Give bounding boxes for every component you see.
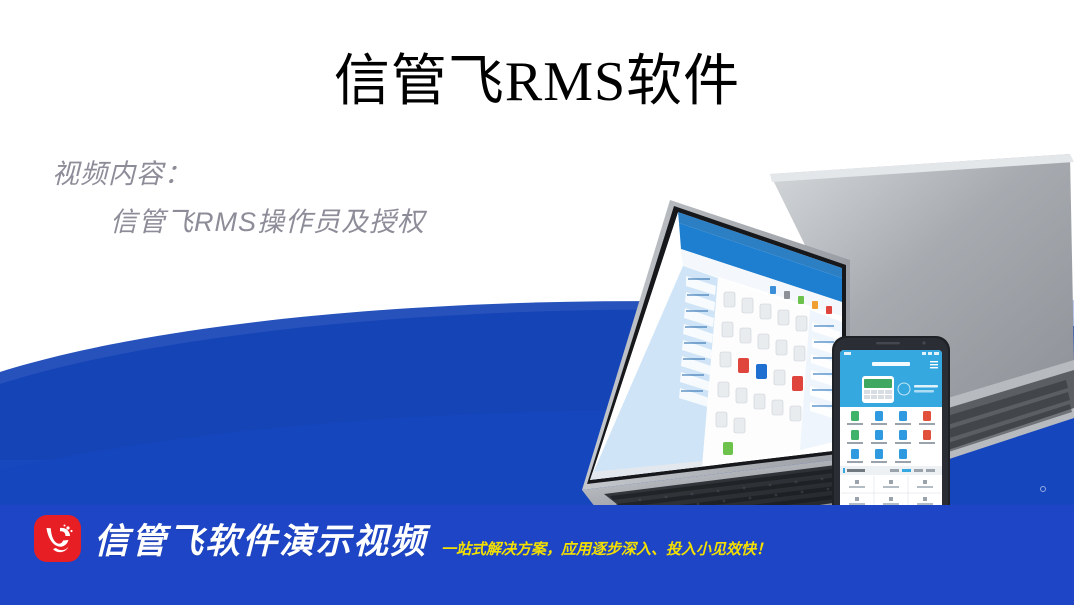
presentation-slide: 信管飞RMS软件 视频内容： 信管飞RMS操作员及授权: [0, 0, 1074, 605]
subtitle-content: 信管飞RMS操作员及授权: [110, 206, 425, 240]
decorative-dot: [1040, 486, 1046, 492]
device-illustration: [470, 150, 1074, 550]
banner-content: 信管飞软件演示视频 一站式解决方案，应用逐步深入、投入小见效快！: [34, 513, 771, 564]
xinguanfei-logo-icon: [34, 515, 81, 562]
banner-brand-text: 信管飞软件演示视频: [94, 513, 427, 564]
bottom-banner: 信管飞软件演示视频 一站式解决方案，应用逐步深入、投入小见效快！: [0, 505, 1074, 605]
page-title: 信管飞RMS软件: [0, 52, 1074, 114]
banner-tagline: 一站式解决方案，应用逐步深入、投入小见效快！: [441, 538, 771, 559]
phone-screen: [840, 350, 942, 528]
subtitle-block: 视频内容： 信管飞RMS操作员及授权: [52, 158, 425, 240]
subtitle-label: 视频内容：: [52, 158, 425, 192]
